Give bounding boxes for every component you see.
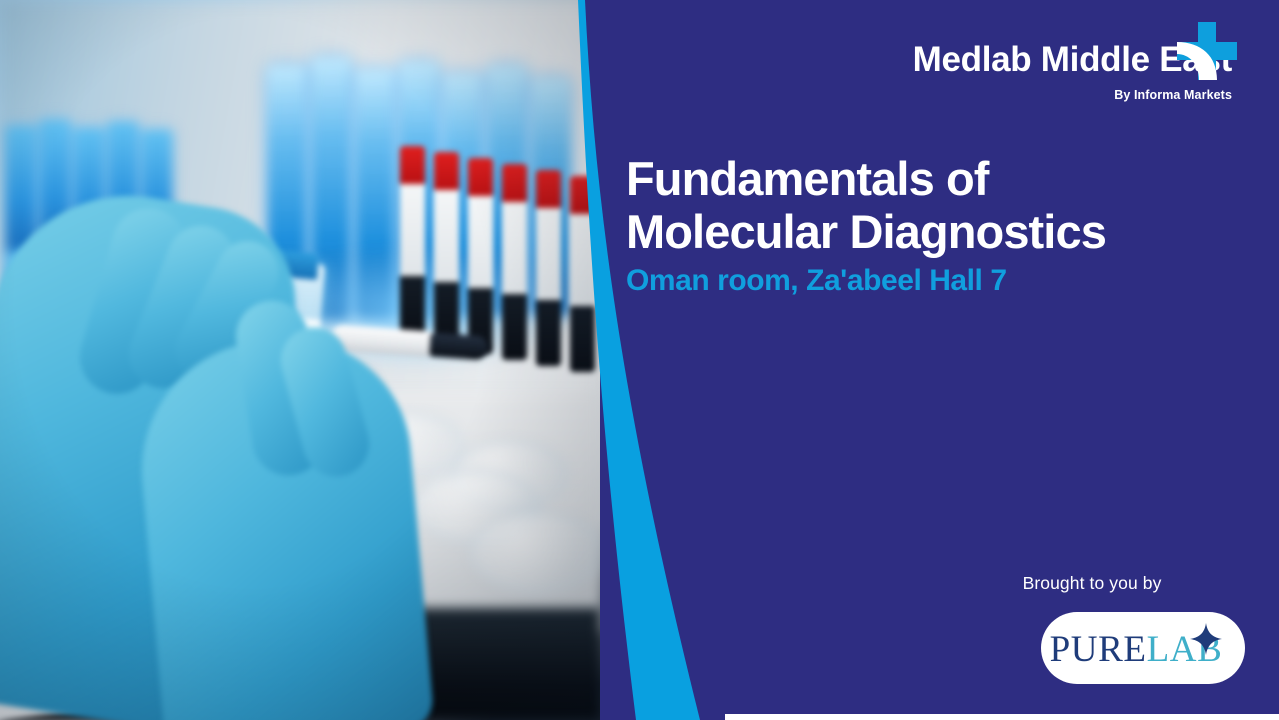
session-location: Oman room, Za'abeel Hall 7 (626, 264, 1266, 298)
purelab-word-pure: PURE (1050, 629, 1147, 670)
session-title-line-1: Fundamentals of (626, 152, 1266, 205)
content-panel: Medlab Middle East By Informa Markets Fu… (585, 0, 1279, 720)
sparkle-star-icon (1189, 622, 1223, 656)
brought-to-you-by-label: Brought to you by (939, 573, 1245, 594)
slide-canvas: Lab test r (0, 0, 1279, 720)
medlab-logo[interactable]: Medlab Middle East By Informa Markets (913, 42, 1232, 102)
session-title: Fundamentals of Molecular Diagnostics (626, 152, 1266, 259)
session-title-block: Fundamentals of Molecular Diagnostics Om… (626, 152, 1266, 298)
session-title-line-2: Molecular Diagnostics (626, 205, 1266, 258)
purelab-logo[interactable]: PURELAB (1041, 612, 1245, 684)
sponsor-block: Brought to you by PURELAB (939, 573, 1245, 684)
informa-markets-tagline: By Informa Markets (913, 88, 1232, 102)
medical-cross-icon (1175, 22, 1237, 84)
